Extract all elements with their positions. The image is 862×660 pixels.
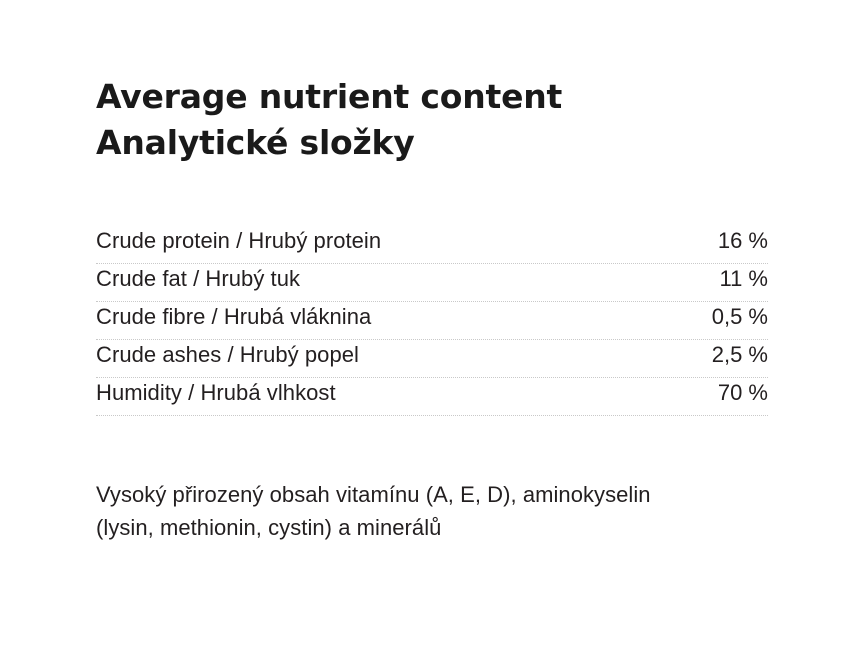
table-row: Crude fibre / Hrubá vláknina 0,5 % — [96, 302, 768, 340]
nutrient-value: 16 % — [718, 226, 768, 256]
nutrient-label: Crude ashes / Hrubý popel — [96, 340, 359, 370]
table-row: Crude ashes / Hrubý popel 2,5 % — [96, 340, 768, 378]
nutrient-label: Crude fat / Hrubý tuk — [96, 264, 300, 294]
page-title-line-english: Average nutrient content — [96, 74, 776, 120]
table-row: Crude protein / Hrubý protein 16 % — [96, 226, 768, 264]
nutrient-value: 70 % — [718, 378, 768, 408]
nutrient-table: Crude protein / Hrubý protein 16 % Crude… — [96, 226, 768, 416]
nutrient-label: Crude fibre / Hrubá vláknina — [96, 302, 371, 332]
nutrient-value: 2,5 % — [712, 340, 768, 370]
table-row: Crude fat / Hrubý tuk 11 % — [96, 264, 768, 302]
footnote-line-1: Vysoký přirozený obsah vitamínu (A, E, D… — [96, 478, 796, 511]
nutrient-label: Crude protein / Hrubý protein — [96, 226, 381, 256]
nutrient-label: Humidity / Hrubá vlhkost — [96, 378, 336, 408]
table-row: Humidity / Hrubá vlhkost 70 % — [96, 378, 768, 416]
page-title-line-czech: Analytické složky — [96, 120, 776, 166]
footnote: Vysoký přirozený obsah vitamínu (A, E, D… — [96, 478, 796, 544]
page-title: Average nutrient content Analytické slož… — [96, 74, 776, 166]
footnote-line-2: (lysin, methionin, cystin) a minerálů — [96, 511, 796, 544]
nutrient-value: 0,5 % — [712, 302, 768, 332]
nutrition-panel: Average nutrient content Analytické slož… — [0, 0, 862, 660]
nutrient-value: 11 % — [719, 264, 768, 294]
